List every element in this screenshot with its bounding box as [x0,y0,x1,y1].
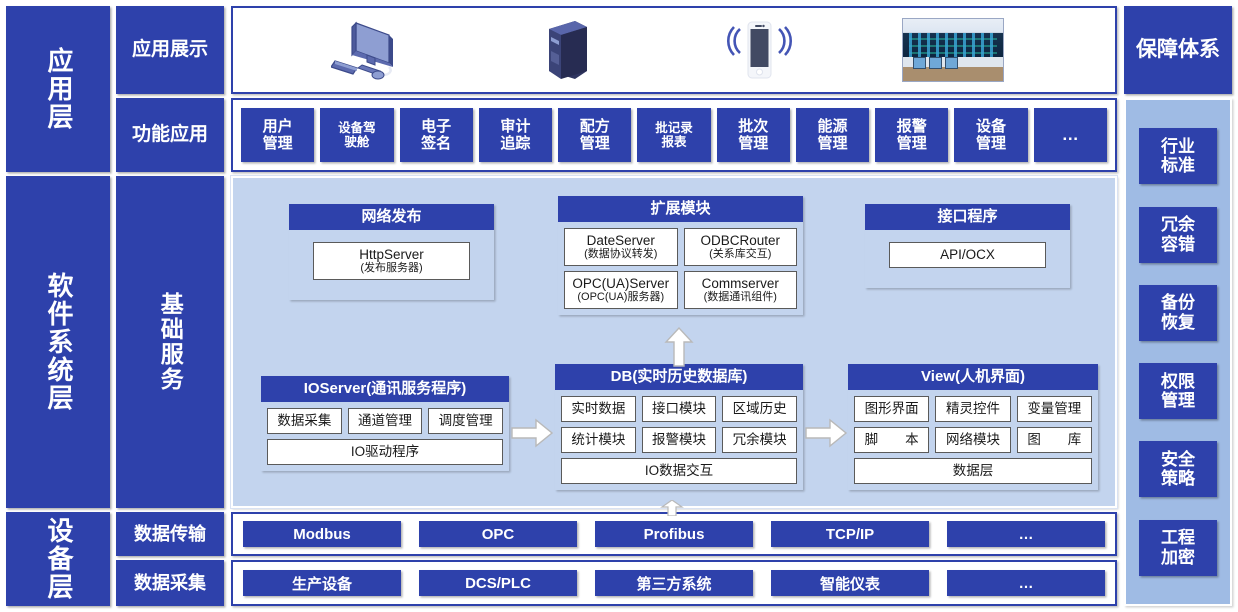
guarantee-system-header: 保障体系 [1124,6,1232,94]
function-app-chip[interactable]: 报警管理 [875,108,948,162]
cell-main: ODBCRouter [700,234,780,249]
chip-line-1: 权限 [1161,372,1195,392]
guarantee-items-strip: 行业标准冗余容错备份恢复权限管理安全策略工程加密 [1124,98,1232,606]
row-label-function-application: 功能应用 [116,98,224,172]
chip-line-1: 冗余 [1161,215,1195,235]
function-application-panel: 用户管理设备驾驶舱电子签名审计追踪配方管理批记录报表批次管理能源管理报警管理设备… [231,98,1117,172]
data-acquisition-panel: 生产设备DCS/PLC第三方系统智能仪表… [231,560,1117,606]
function-app-chip[interactable]: 设备驾驶舱 [320,108,393,162]
cell-db-3[interactable]: 区域历史 [722,396,797,422]
data-transfer-chip[interactable]: TCP/IP [771,521,929,547]
data-acquisition-chip[interactable]: DCS/PLC [419,570,577,596]
data-acquisition-chip[interactable]: 生产设备 [243,570,401,596]
cell-sub: (数据协议转发) [584,248,657,260]
chip-line-1: 工程 [1161,528,1195,548]
chip-line-1: 报警 [897,118,927,135]
cell-db-5[interactable]: 报警模块 [642,427,717,453]
module-interface-program: 接口程序 API/OCX [865,204,1070,288]
function-app-chip[interactable]: 用户管理 [241,108,314,162]
cell-main: Commserver [702,277,779,292]
cell-view-4[interactable]: 脚 本 [854,427,929,453]
cell-view-2[interactable]: 精灵控件 [935,396,1010,422]
module-title: IOServer(通讯服务程序) [261,376,509,402]
cell-db-4[interactable]: 统计模块 [561,427,636,453]
row-label-application-display: 应用展示 [116,6,224,94]
guarantee-chip[interactable]: 备份恢复 [1139,285,1217,341]
guarantee-chip[interactable]: 权限管理 [1139,363,1217,419]
chip-line-2: 策略 [1161,469,1195,489]
function-app-chip[interactable]: 电子签名 [400,108,473,162]
base-service-panel: 网络发布 HttpServer (发布服务器) 扩展模块 DateServer … [231,176,1117,508]
module-db: DB(实时历史数据库) 实时数据 接口模块 区域历史 统计模块 报警模块 冗余模… [555,364,803,490]
cell-view-data-layer[interactable]: 数据层 [854,458,1092,484]
function-app-chip[interactable]: 批记录报表 [637,108,710,162]
chip-line-2: 管理 [738,135,768,152]
row-label-base-service: 基础服务 [116,176,224,508]
cell-view-6[interactable]: 图 库 [1017,427,1092,453]
function-app-chip[interactable]: 审计追踪 [479,108,552,162]
module-title: View(人机界面) [848,364,1098,390]
application-display-panel [231,6,1117,94]
chip-line-2: 容错 [1161,235,1195,255]
function-app-chip[interactable]: 设备管理 [954,108,1027,162]
function-app-chip[interactable]: 配方管理 [558,108,631,162]
guarantee-chip[interactable]: 工程加密 [1139,520,1217,576]
cell-view-1[interactable]: 图形界面 [854,396,929,422]
arrow-ioserver-to-db [510,418,554,448]
chip-line-1: … [1062,125,1079,145]
cell-odbcrouter[interactable]: ODBCRouter (关系库交互) [684,228,798,266]
cell-view-5[interactable]: 网络模块 [935,427,1010,453]
cell-io-1[interactable]: 数据采集 [267,408,342,434]
arrow-acquisition-to-core [660,500,684,516]
guarantee-chip[interactable]: 冗余容错 [1139,207,1217,263]
chip-line-1: 备份 [1161,293,1195,313]
data-acquisition-chip[interactable]: 第三方系统 [595,570,753,596]
chip-line-1: 用户 [263,118,293,135]
module-title: 接口程序 [865,204,1070,230]
module-ioserver: IOServer(通讯服务程序) 数据采集 通道管理 调度管理 IO驱动程序 [261,376,509,471]
data-transfer-chip[interactable]: … [947,521,1105,547]
cell-sub: (OPC(UA)服务器) [577,291,664,303]
guarantee-chip[interactable]: 安全策略 [1139,441,1217,497]
row-label-data-acquisition: 数据采集 [116,560,224,606]
architecture-diagram: 应用层 软件系统层 设备层 应用展示 功能应用 基础服务 数据传输 数据采集 [0,0,1238,612]
chip-line-2: 管理 [897,135,927,152]
chip-line-2: 报表 [661,135,686,149]
cell-main: DateServer [587,234,655,249]
cell-sub: (发布服务器) [360,262,422,274]
chip-line-1: 审计 [500,118,530,135]
chip-line-1: 设备驾 [338,121,376,135]
chip-line-1: 批次 [738,118,768,135]
chip-line-2: 管理 [817,135,847,152]
cell-io-2[interactable]: 通道管理 [348,408,423,434]
chip-line-2: 管理 [263,135,293,152]
function-app-chip[interactable]: … [1034,108,1107,162]
cell-opc-ua-server[interactable]: OPC(UA)Server (OPC(UA)服务器) [564,271,678,309]
cell-view-3[interactable]: 变量管理 [1017,396,1092,422]
function-app-chip[interactable]: 能源管理 [796,108,869,162]
data-acquisition-chip[interactable]: 智能仪表 [771,570,929,596]
cell-db-1[interactable]: 实时数据 [561,396,636,422]
module-extension: 扩展模块 DateServer (数据协议转发) ODBCRouter (关系库… [558,196,803,315]
layer-software-system: 软件系统层 [6,176,110,508]
chip-line-1: 行业 [1161,137,1195,157]
chip-line-1: 配方 [580,118,610,135]
cell-db-io-exchange[interactable]: IO数据交互 [561,458,797,484]
module-view: View(人机界面) 图形界面 精灵控件 变量管理 脚 本 网络模块 图 库 数… [848,364,1098,490]
chip-line-1: 安全 [1161,450,1195,470]
cell-io-driver[interactable]: IO驱动程序 [267,439,503,465]
chip-line-2: 加密 [1161,548,1195,568]
data-acquisition-chip[interactable]: … [947,570,1105,596]
chip-line-2: 追踪 [500,135,530,152]
module-title: 扩展模块 [558,196,803,222]
cell-dateserver[interactable]: DateServer (数据协议转发) [564,228,678,266]
cell-io-3[interactable]: 调度管理 [428,408,503,434]
chip-line-1: 批记录 [655,121,693,135]
chip-line-2: 签名 [421,135,451,152]
cell-sub: (数据通讯组件) [704,291,777,303]
server-tower-icon [488,8,638,92]
arrow-db-to-extension [664,326,694,368]
cell-db-6[interactable]: 冗余模块 [722,427,797,453]
desktop-computer-icon [293,8,443,92]
cell-httpserver[interactable]: HttpServer (发布服务器) [313,242,470,280]
data-transfer-chip[interactable]: Profibus [595,521,753,547]
layer-device: 设备层 [6,512,110,606]
cell-main: OPC(UA)Server [572,277,669,292]
chip-line-1: 电子 [421,118,451,135]
chip-line-2: 标准 [1161,156,1195,176]
chip-line-2: 管理 [580,135,610,152]
module-title: 网络发布 [289,204,494,230]
chip-line-1: 能源 [817,118,847,135]
module-network-publish: 网络发布 HttpServer (发布服务器) [289,204,494,300]
cell-sub: (关系库交互) [709,248,771,260]
data-transfer-panel: ModbusOPCProfibusTCP/IP… [231,512,1117,556]
row-label-data-transfer: 数据传输 [116,512,224,556]
cell-commserver[interactable]: Commserver (数据通讯组件) [684,271,798,309]
function-app-chip[interactable]: 批次管理 [717,108,790,162]
data-transfer-chip[interactable]: Modbus [243,521,401,547]
chip-line-1: 设备 [976,118,1006,135]
mobile-phone-wireless-icon [683,8,833,92]
chip-line-2: 管理 [1161,391,1195,411]
layer-application: 应用层 [6,6,110,172]
data-transfer-chip[interactable]: OPC [419,521,577,547]
cell-db-2[interactable]: 接口模块 [642,396,717,422]
cell-main: HttpServer [359,248,424,263]
control-room-photo [853,8,1053,92]
chip-line-2: 驶舱 [344,135,369,149]
chip-line-2: 恢复 [1161,313,1195,333]
guarantee-chip[interactable]: 行业标准 [1139,128,1217,184]
cell-api-ocx[interactable]: API/OCX [889,242,1046,268]
arrow-db-to-view [804,418,848,448]
chip-line-2: 管理 [976,135,1006,152]
